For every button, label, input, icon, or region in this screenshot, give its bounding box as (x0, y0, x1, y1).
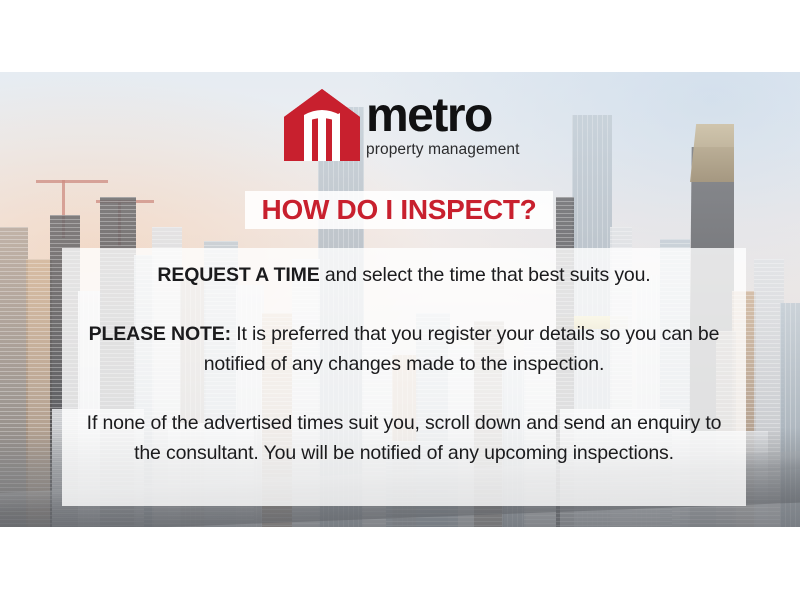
metro-logo: metro property management (282, 84, 532, 168)
paragraph-1-lead: REQUEST A TIME (157, 264, 319, 286)
brand-tagline: property management (366, 141, 520, 158)
paragraph-2-rest: It is preferred that you register your d… (204, 323, 720, 375)
building-tapered-tower-crown (690, 124, 734, 182)
crane-arm-left (36, 180, 108, 183)
paragraph-1-rest: and select the time that best suits you. (320, 264, 651, 286)
metro-house-m-logo-icon (282, 87, 362, 165)
paragraph-request-a-time: REQUEST A TIME and select the time that … (76, 260, 732, 290)
body-copy: REQUEST A TIME and select the time that … (62, 248, 746, 506)
inspection-info-graphic: metro property management HOW DO I INSPE… (0, 0, 800, 600)
paragraph-3-rest: If none of the advertised times suit you… (87, 412, 722, 464)
brand-name: metro (366, 94, 520, 138)
page-title: HOW DO I INSPECT? (262, 194, 537, 226)
letterbox-top (0, 0, 800, 72)
paragraph-enquiry: If none of the advertised times suit you… (76, 408, 732, 468)
headline-band: HOW DO I INSPECT? (245, 191, 553, 229)
letterbox-bottom (0, 527, 800, 600)
paragraph-2-lead: PLEASE NOTE: (89, 323, 231, 345)
paragraph-please-note: PLEASE NOTE: It is preferred that you re… (76, 319, 732, 379)
metro-wordmark: metro property management (366, 94, 520, 157)
